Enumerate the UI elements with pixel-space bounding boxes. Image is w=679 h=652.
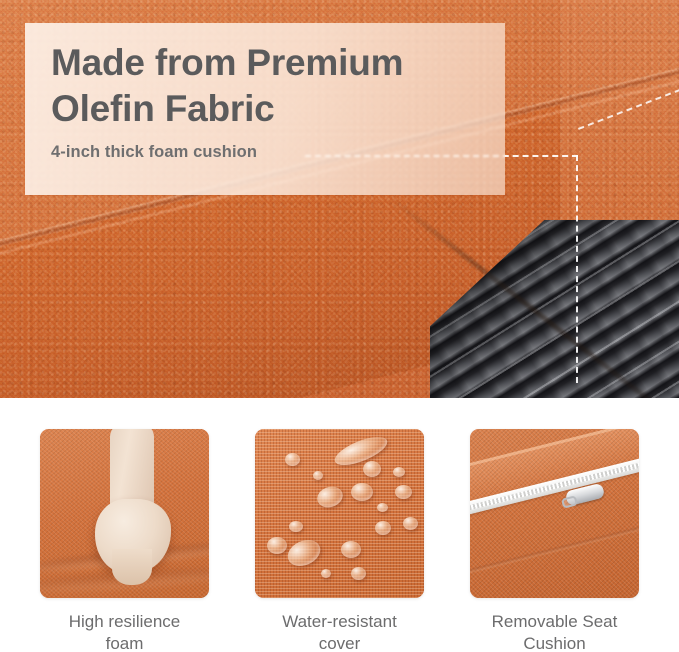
feature-image-high-resilience-foam [40,429,209,598]
hero-title: Made from Premium Olefin Fabric [51,40,521,132]
cushion-fabric-texture [470,429,639,598]
water-droplet-icon [377,503,388,512]
hero-image-panel: Made from Premium Olefin Fabric 4-inch t… [0,0,679,398]
water-droplet-icon [321,569,331,578]
water-droplet-icon [313,471,323,480]
water-droplet-icon [363,461,381,477]
foot-front-icon [112,549,152,585]
feature-card-removable-seat-cushion: Removable Seat Cushion [470,429,639,652]
water-droplet-icon [351,483,373,501]
water-droplet-icon [285,453,300,466]
feature-caption: High resilience foam [69,611,181,652]
water-droplet-icon [393,467,405,477]
water-droplet-icon [289,521,303,532]
feature-row: High resilience foam [0,398,679,652]
water-droplet-icon [351,567,366,580]
product-feature-infographic: Made from Premium Olefin Fabric 4-inch t… [0,0,679,652]
feature-image-water-resistant-cover [255,429,424,598]
feature-caption: Water-resistant cover [282,611,397,652]
water-droplet-icon [267,537,287,554]
water-droplet-icon [403,517,418,530]
water-droplet-icon [395,485,412,499]
water-droplet-icon [341,541,361,558]
feature-image-removable-seat-cushion [470,429,639,598]
dashed-callout-vertical-icon [576,155,578,383]
feature-caption: Removable Seat Cushion [492,611,618,652]
water-droplet-icon [375,521,391,535]
hero-subtitle: 4-inch thick foam cushion [51,143,257,162]
feature-card-water-resistant-cover: Water-resistant cover [255,429,424,652]
feature-card-high-resilience-foam: High resilience foam [40,429,209,652]
